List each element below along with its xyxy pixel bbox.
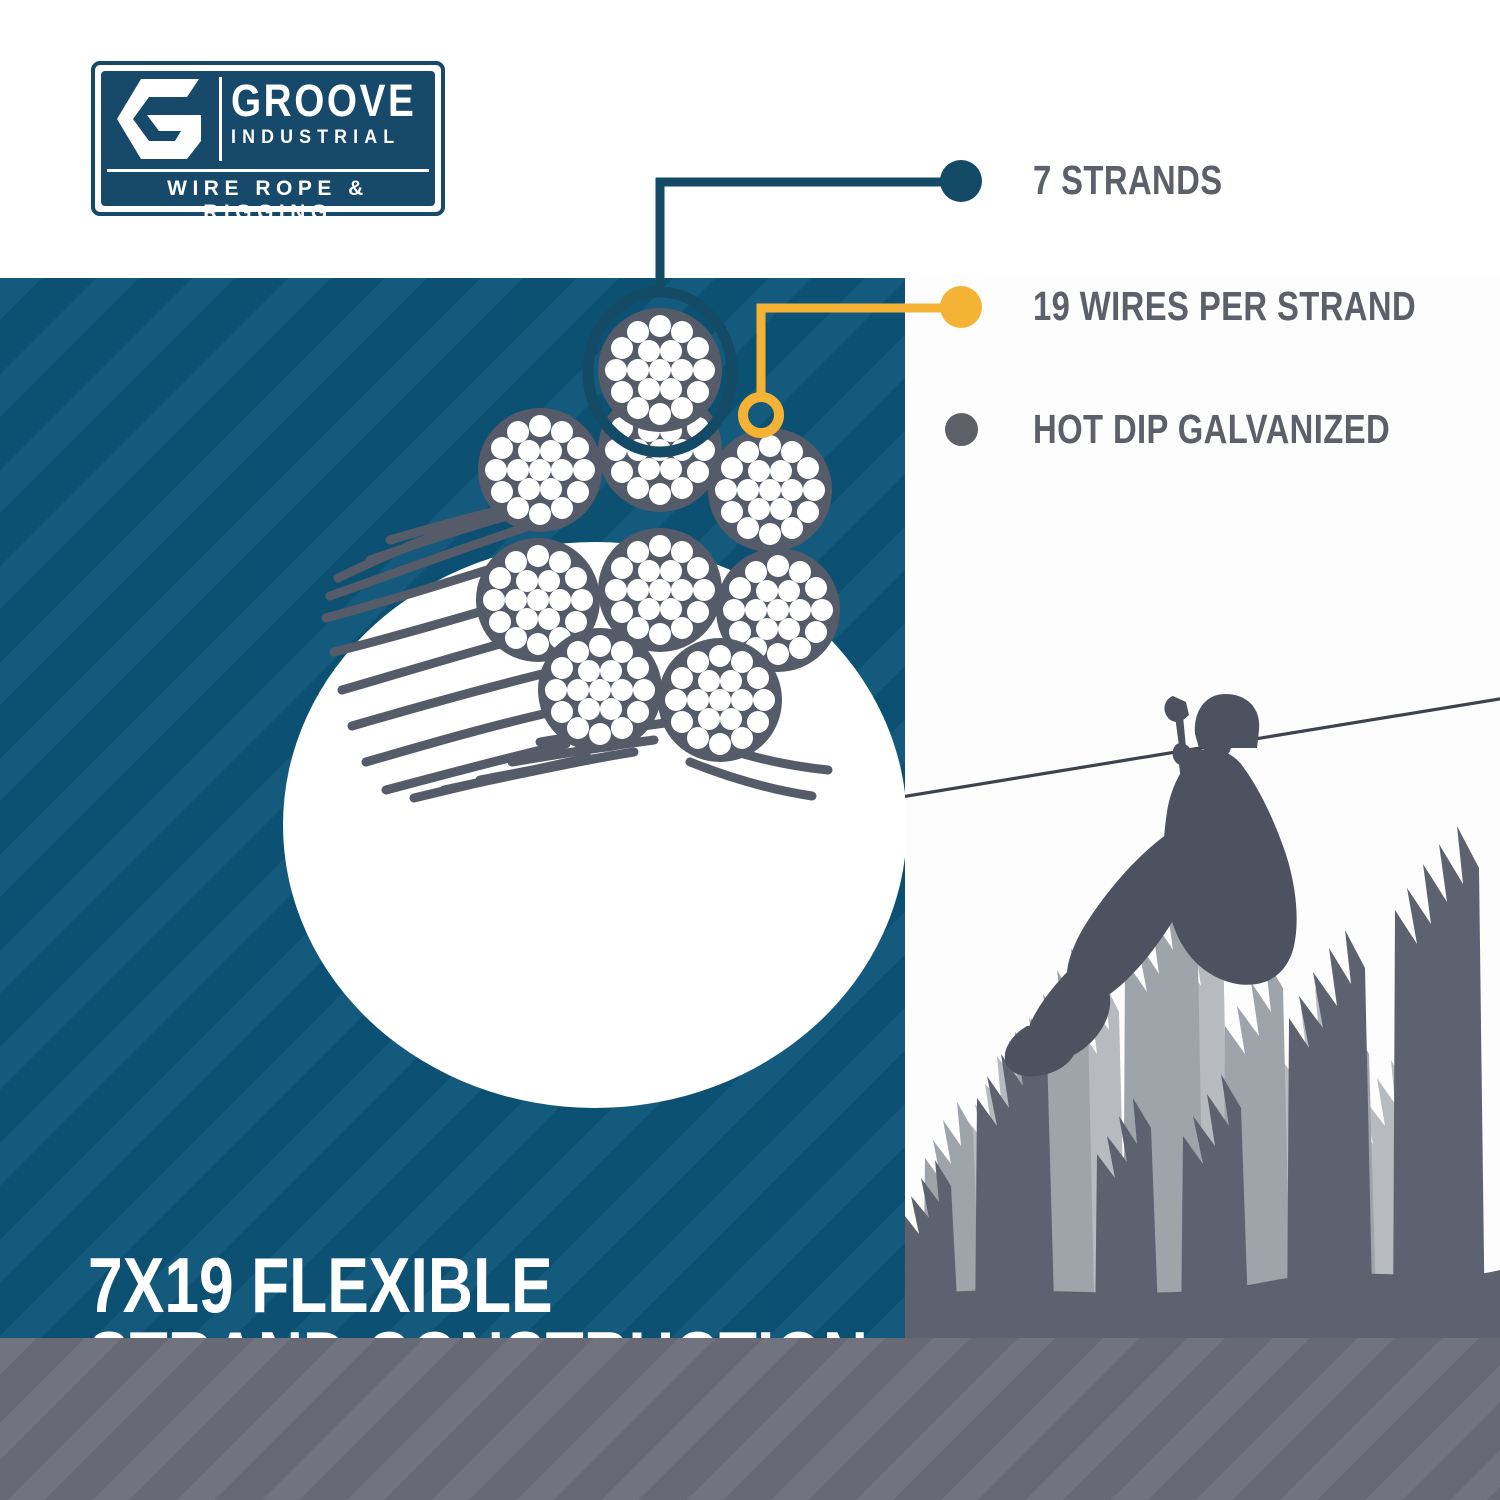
callout-dot-gray-icon [945,413,978,446]
callout-7-strands: 7 STRANDS [940,157,1270,204]
callout-label-strands: 7 STRANDS [1033,157,1223,204]
logo-divider-vertical [219,77,222,161]
callout-label-wires: 19 WIRES PER STRAND [1033,283,1416,330]
infographic-canvas: 7X19 FLEXIBLE STRAND CONSTRUCTION Our ai… [0,0,1500,1500]
logo-inner-plate: GROOVE INDUSTRIAL WIRE ROPE & RIGGING [101,71,435,206]
g-monogram-icon [101,71,217,167]
callout-19-wires: 19 WIRES PER STRAND [940,283,1500,330]
brand-logo[interactable]: GROOVE INDUSTRIAL WIRE ROPE & RIGGING [91,61,445,216]
logo-wordmark: GROOVE INDUSTRIAL [231,77,437,150]
teal-content-panel: 7X19 FLEXIBLE STRAND CONSTRUCTION Our ai… [0,278,905,1338]
headline-line-2: STRAND CONSTRUCTION [88,1322,720,1338]
headline-line-1: 7X19 FLEXIBLE [88,1248,720,1322]
logo-divider-horizontal [107,169,429,172]
illustration-circle-backdrop [283,542,905,1108]
logo-name: GROOVE [231,77,408,124]
logo-tagline: WIRE ROPE & RIGGING [101,177,435,225]
page-title: 7X19 FLEXIBLE STRAND CONSTRUCTION [88,1248,720,1338]
logo-subname: INDUSTRIAL [231,126,425,150]
callout-label-galvanized: HOT DIP GALVANIZED [1033,406,1390,453]
connector-line-navy [660,182,955,292]
callout-dot-amber-icon [940,286,982,328]
callout-hot-dip-galvanized: HOT DIP GALVANIZED [945,406,1479,453]
callout-dot-navy-icon [940,160,982,202]
bottom-gray-band [0,1338,1500,1500]
